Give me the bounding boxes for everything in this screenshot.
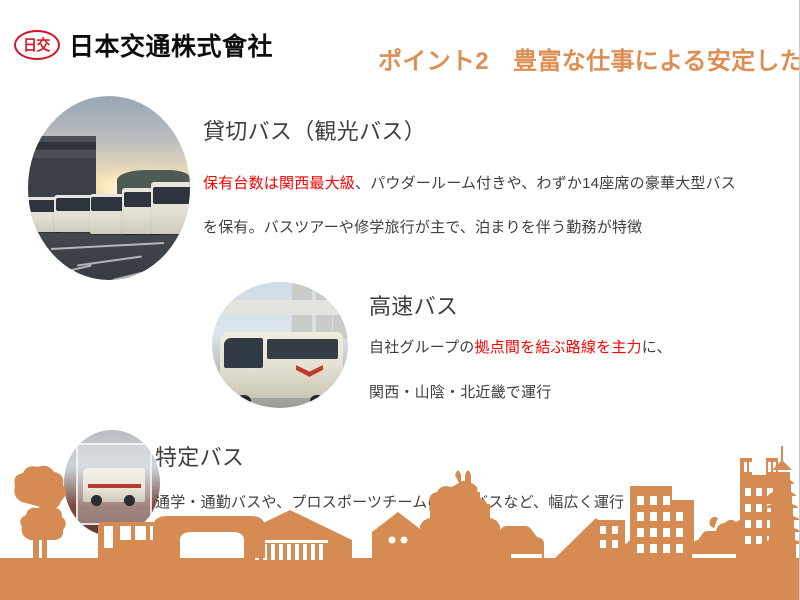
photo-model-bus xyxy=(83,468,144,502)
castle-icon xyxy=(409,471,511,559)
highway-plain-text-b: に、 xyxy=(642,339,672,356)
low-rise-building-icon xyxy=(595,520,625,558)
heading-special-bus: 特定バス xyxy=(155,440,244,472)
photo-highway-bus xyxy=(212,282,348,408)
photo-wheel xyxy=(91,495,102,507)
mid-rise-building-icon xyxy=(630,486,694,558)
heading-charter-bus: 貸切バス（観光バス） xyxy=(203,114,426,146)
mountains-icon xyxy=(555,510,706,558)
photo-building xyxy=(28,136,96,197)
photo-special-bus-model xyxy=(64,430,160,536)
photo-overpass xyxy=(212,300,348,315)
charter-bus-description-line-1: 保有台数は関西最大級、パウダールーム付きや、わずか14座席の豪華大型バス xyxy=(203,172,736,193)
highway-bus-description-line-2: 関西・山陰・北近畿で運行 xyxy=(369,381,551,402)
special-bus-description-line-1: 通学・通勤バスや、プロスポーツチームの送迎バスなど、幅広く運行 xyxy=(155,491,624,512)
high-rise-building-icon xyxy=(740,458,778,558)
slide-canvas: 日交 日本交通株式會社 ポイント2 豊富な仕事による安定した収入！ 貸切バス（観… xyxy=(0,0,800,600)
photo-wheel xyxy=(310,395,325,406)
traditional-hall-icon xyxy=(228,510,352,560)
charter-plain-text: 、パウダールーム付きや、わずか14座席の豪華大型バス xyxy=(355,175,736,192)
logo-mark-text: 日交 xyxy=(24,38,51,53)
highway-highlight-text: 拠点間を結ぶ路線を主力 xyxy=(475,339,642,356)
camel-icon xyxy=(710,517,763,558)
tree-icon xyxy=(20,505,66,560)
heading-highway-bus: 高速バス xyxy=(369,289,458,321)
highway-bus-description-line-1: 自社グループの拠点間を結ぶ路線を主力に、 xyxy=(369,336,672,357)
company-logo: 日交 日本交通株式會社 xyxy=(14,27,273,63)
photo-windshield xyxy=(224,338,263,368)
highway-plain-text-a: 自社グループの xyxy=(369,339,475,356)
silhouette-ground xyxy=(0,558,800,600)
nihon-kotsu-logo-icon: 日交 xyxy=(14,30,60,60)
photo-charter-bus-fleet xyxy=(28,96,190,280)
photo-wheel xyxy=(124,495,135,507)
stadium-icon xyxy=(153,516,265,558)
pagoda-tower-icon xyxy=(761,446,800,558)
photo-bus-emblem xyxy=(296,365,323,377)
photo-bus xyxy=(151,182,190,234)
taxi-icon xyxy=(488,526,544,566)
photo-bus-stripe xyxy=(88,484,141,488)
company-name: 日本交通株式會社 xyxy=(69,27,273,63)
charter-bus-description-line-2: を保有。バスツアーや修学旅行が主で、泊まりを伴う勤務が特徴 xyxy=(203,216,642,237)
slide-title: ポイント2 豊富な仕事による安定した収入！ xyxy=(378,41,800,76)
car-icon xyxy=(692,531,740,564)
tree-icon xyxy=(14,466,66,558)
photo-bus-body xyxy=(220,332,342,398)
house-icon xyxy=(372,512,424,558)
charter-highlight-text: 保有台数は関西最大級 xyxy=(203,175,355,192)
photo-side-windows xyxy=(267,339,338,359)
